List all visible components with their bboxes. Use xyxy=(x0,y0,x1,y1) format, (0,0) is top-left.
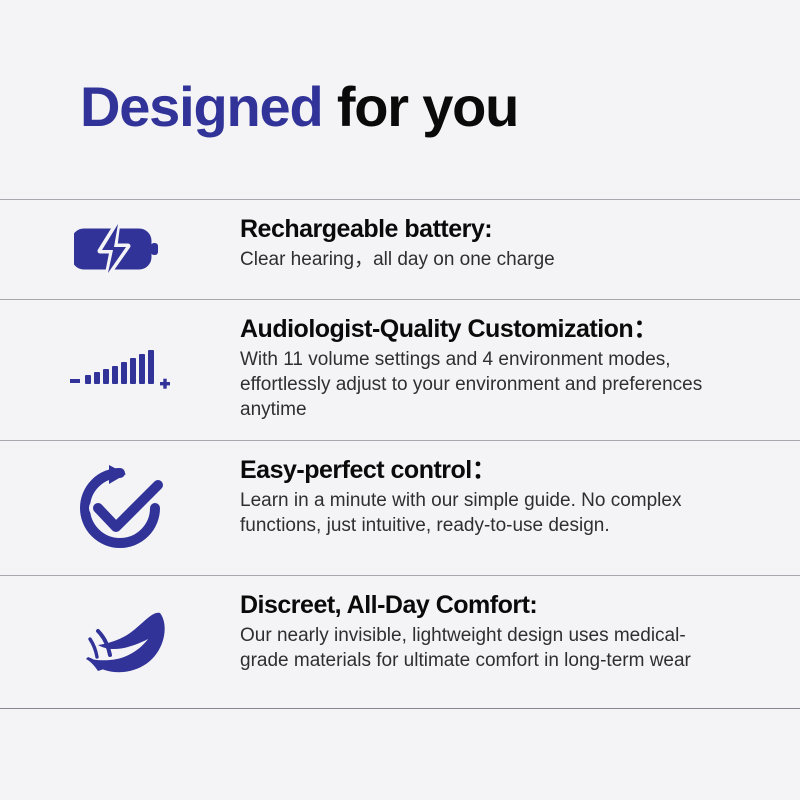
feature-text-cell: Discreet, All-Day Comfort: Our nearly in… xyxy=(240,576,800,691)
feature-title: Discreet, All-Day Comfort: xyxy=(240,590,740,620)
feature-icon-cell xyxy=(0,200,240,299)
feature-text-cell: Audiologist-Quality Customization： With … xyxy=(240,300,800,440)
feature-row: Rechargeable battery: Clear hearing，all … xyxy=(0,200,800,300)
feature-icon-cell xyxy=(0,441,240,575)
feature-description: Learn in a minute with our simple guide.… xyxy=(240,488,720,538)
circle-check-arrow-icon xyxy=(72,460,168,556)
feature-list: Rechargeable battery: Clear hearing，all … xyxy=(0,199,800,709)
feature-row: Discreet, All-Day Comfort: Our nearly in… xyxy=(0,576,800,709)
page-title-accent: Designed xyxy=(80,75,322,138)
feature-title: Audiologist-Quality Customization： xyxy=(240,314,740,344)
feather-icon xyxy=(68,605,172,679)
feature-row: Easy-perfect control： Learn in a minute … xyxy=(0,441,800,576)
feature-row: Audiologist-Quality Customization： With … xyxy=(0,300,800,441)
feature-description: Clear hearing，all day on one charge xyxy=(240,247,720,272)
page-title-rest: for you xyxy=(322,75,518,138)
volume-bars-icon xyxy=(68,346,172,394)
page-title: Designed for you xyxy=(80,78,800,137)
feature-description: With 11 volume settings and 4 environmen… xyxy=(240,347,720,422)
feature-icon-cell xyxy=(0,576,240,708)
battery-charging-icon xyxy=(74,220,166,278)
page-header: Designed for you xyxy=(0,0,800,137)
feature-icon-cell xyxy=(0,300,240,440)
feature-text-cell: Rechargeable battery: Clear hearing，all … xyxy=(240,200,800,290)
feature-title: Easy-perfect control： xyxy=(240,455,740,485)
feature-text-cell: Easy-perfect control： Learn in a minute … xyxy=(240,441,800,556)
feature-title: Rechargeable battery: xyxy=(240,214,740,244)
feature-highlights-page: Designed for you Rechargeable battery: C… xyxy=(0,0,800,800)
feature-description: Our nearly invisible, lightweight design… xyxy=(240,623,720,673)
